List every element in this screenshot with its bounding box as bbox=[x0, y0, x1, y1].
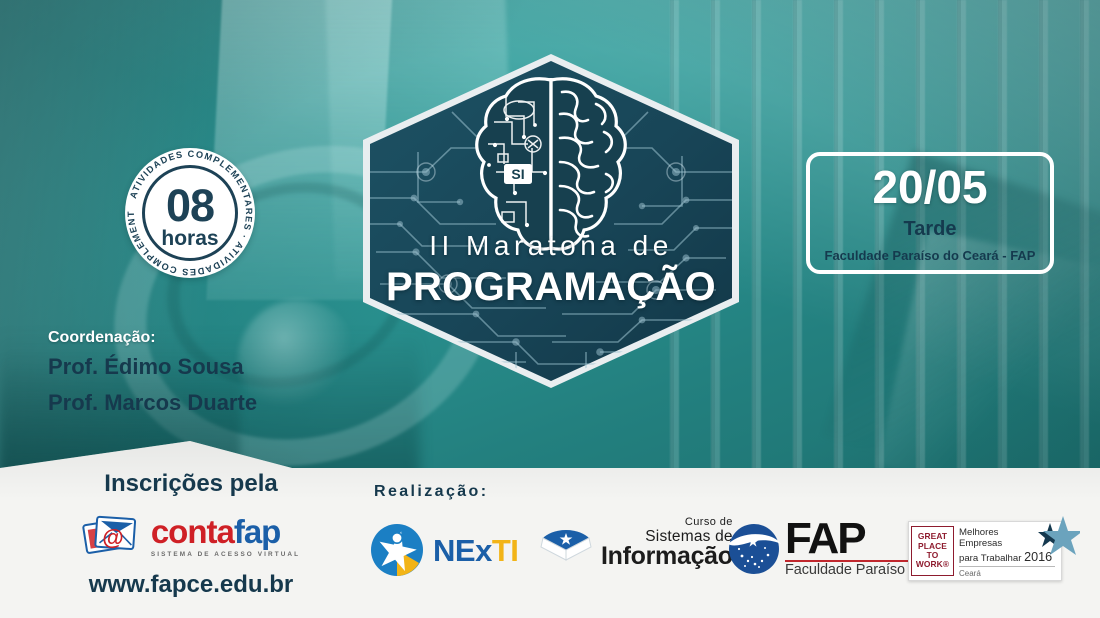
nexti-wordmark: NExTI bbox=[433, 535, 518, 566]
hours-badge-number: 08 bbox=[145, 183, 235, 228]
hours-badge-inner-circle: 08 horas bbox=[142, 165, 238, 261]
si-chip-label: SI bbox=[511, 166, 524, 182]
gptw-star-icon bbox=[1034, 513, 1080, 559]
coordinator-name-1: Prof. Édimo Sousa bbox=[48, 353, 257, 382]
realization-label: Realização: bbox=[374, 484, 488, 500]
hexagon-emblem: SI II Maratona de PROGRAMAÇÃO bbox=[356, 52, 746, 390]
nexti-logo[interactable]: NExTI bbox=[370, 523, 518, 577]
gptw-card: GREAT PLACE TO WORK® Melhores Empresas p… bbox=[908, 521, 1062, 581]
nexti-star-icon bbox=[370, 523, 424, 577]
contafap-word-conta: conta bbox=[151, 513, 234, 550]
contafap-logo[interactable]: @ contafap SISTEMA DE ACESSO VIRTUAL bbox=[60, 505, 322, 567]
event-date: 20/05 bbox=[872, 164, 987, 210]
gptw-divider bbox=[959, 566, 1055, 567]
si-line-1: Curso de bbox=[601, 517, 733, 528]
registration-title: Inscrições pela bbox=[60, 472, 322, 496]
coordination-label: Coordenação: bbox=[48, 330, 257, 346]
si-line-3: Informação bbox=[601, 544, 733, 569]
open-book-icon bbox=[535, 520, 597, 566]
coordinator-name-2: Prof. Marcos Duarte bbox=[48, 389, 257, 418]
gptw-text-line3: para Trabalhar bbox=[959, 553, 1021, 564]
contafap-wordmark: contafap SISTEMA DE ACESSO VIRTUAL bbox=[151, 515, 300, 558]
contafap-tagline: SISTEMA DE ACESSO VIRTUAL bbox=[151, 551, 300, 558]
gptw-seal-line4: WORK® bbox=[916, 560, 949, 569]
fap-globe-icon bbox=[725, 520, 783, 578]
sponsor-logos: NExTI Curso de Sistemas de Informação bbox=[370, 515, 1070, 595]
sistemas-informacao-logo[interactable]: Curso de Sistemas de Informação bbox=[535, 517, 733, 569]
registration-block: Inscrições pela @ bbox=[60, 472, 322, 597]
gptw-region: Ceará bbox=[959, 569, 1057, 578]
gptw-badge[interactable]: GREAT PLACE TO WORK® Melhores Empresas p… bbox=[908, 521, 1062, 581]
realization-block: Realização: bbox=[374, 484, 488, 500]
contafap-word-fap: fap bbox=[234, 513, 281, 550]
hours-badge: ATIVIDADES COMPLEMENTARES · ATIVIDADES C… bbox=[125, 148, 255, 278]
hexagon-graphic: SI bbox=[356, 52, 746, 390]
event-venue: Faculdade Paraíso do Ceará - FAP bbox=[825, 249, 1036, 262]
nexti-word-a: NEx bbox=[433, 533, 492, 568]
coordination-block: Coordenação: Prof. Édimo Sousa Prof. Mar… bbox=[48, 330, 257, 417]
date-panel: 20/05 Tarde Faculdade Paraíso do Ceará -… bbox=[806, 152, 1054, 274]
svg-text:@: @ bbox=[102, 525, 123, 550]
registration-url[interactable]: www.fapce.edu.br bbox=[60, 573, 322, 597]
fap-logo[interactable]: FAP Faculdade Paraíso - CE bbox=[725, 519, 938, 579]
sistemas-informacao-wordmark: Curso de Sistemas de Informação bbox=[601, 517, 733, 569]
hours-badge-unit: horas bbox=[145, 228, 235, 249]
event-poster: ATIVIDADES COMPLEMENTARES · ATIVIDADES C… bbox=[0, 0, 1100, 618]
contafap-envelope-icon: @ bbox=[82, 512, 144, 560]
nexti-word-b: TI bbox=[492, 533, 519, 568]
event-period: Tarde bbox=[904, 219, 957, 239]
gptw-seal: GREAT PLACE TO WORK® bbox=[909, 522, 956, 580]
